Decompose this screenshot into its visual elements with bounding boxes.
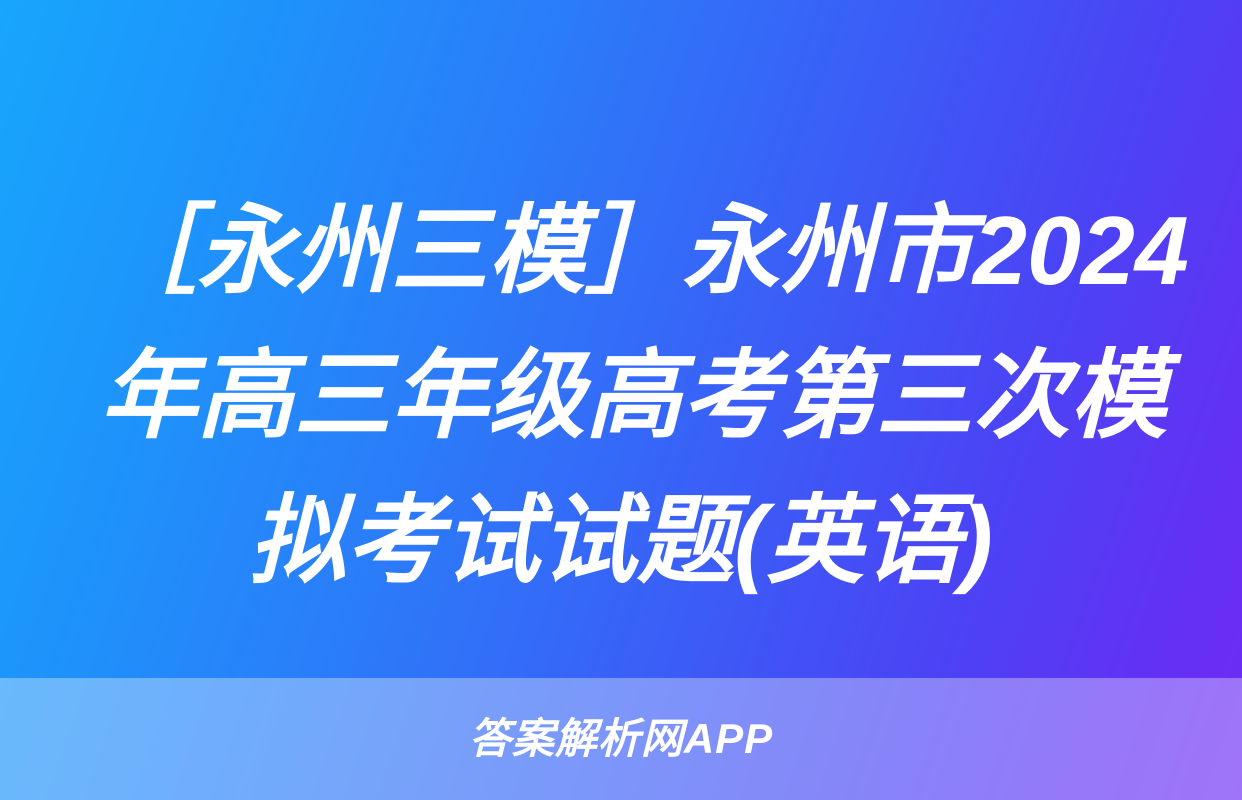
page-title: ［永州三模］永州市2024 年高三年级高考第三次模 拟考试试题(英语) xyxy=(0,178,1242,613)
watermark-text: 答案解析网APP xyxy=(469,718,773,760)
watermark-band: 答案解析网APP xyxy=(0,678,1242,800)
title-line-3: 拟考试试题(英语) xyxy=(96,468,1146,613)
title-line-1: ［永州三模］永州市2024 xyxy=(100,178,1146,323)
title-line-2: 年高三年级高考第三次模 xyxy=(100,323,1146,468)
title-card: ［永州三模］永州市2024 年高三年级高考第三次模 拟考试试题(英语) 答案解析… xyxy=(0,0,1242,800)
